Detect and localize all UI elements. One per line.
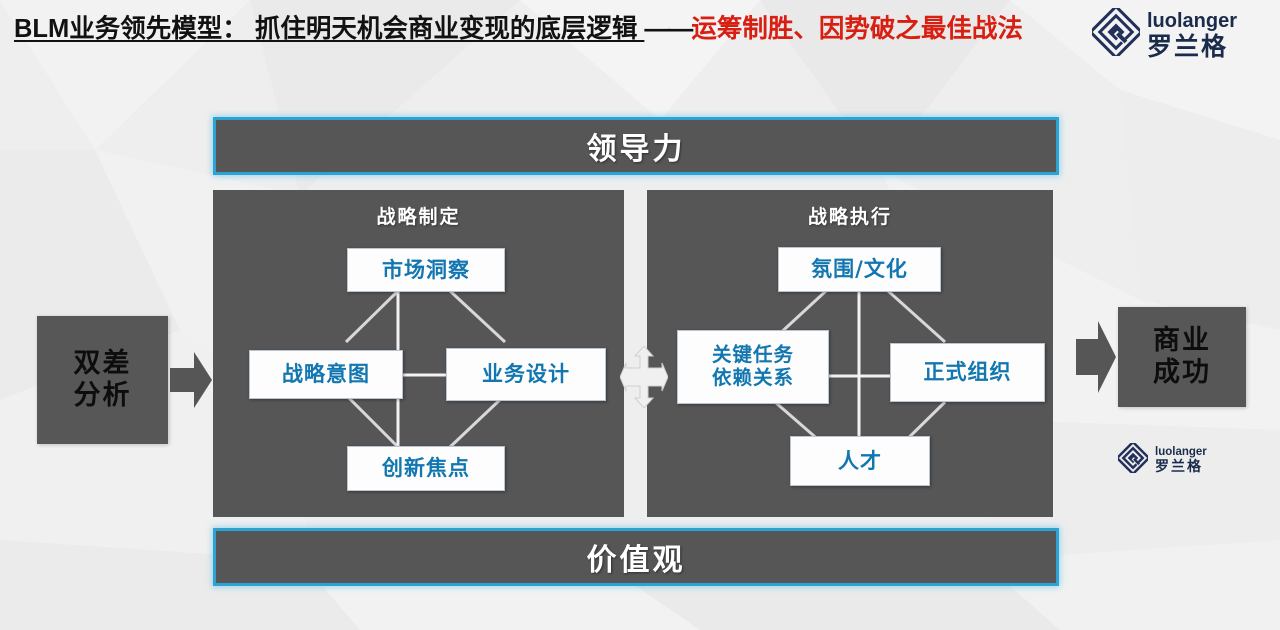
output-box-business-success: 商业成功: [1118, 307, 1246, 407]
node-talent[interactable]: 人才: [790, 436, 930, 486]
node-innovation-focus[interactable]: 创新焦点: [347, 446, 505, 491]
title-red-text: 运筹制胜、因势破之最佳战法: [691, 15, 1023, 43]
arrow-right-icon: [1076, 307, 1116, 412]
input-box-line2: 分析: [74, 380, 132, 411]
diamond-logo-icon: [1092, 8, 1140, 61]
node-atmosphere-culture[interactable]: 氛围/文化: [778, 247, 941, 292]
arrow-right-icon: [170, 352, 212, 413]
brand-name-en: luolanger: [1147, 11, 1237, 31]
brand-name-cn: 罗兰格: [1147, 34, 1237, 59]
input-box-label: 双差分析: [74, 348, 132, 412]
output-box-label: 商业成功: [1153, 325, 1211, 389]
node-label: 业务设计: [482, 362, 570, 386]
node-market-insight[interactable]: 市场洞察: [347, 248, 505, 292]
brand-name-en: luolanger: [1155, 447, 1207, 459]
title-dash: ——: [644, 15, 691, 43]
panel-title-left: 战略制定: [213, 202, 624, 229]
leadership-label: 领导力: [587, 124, 686, 168]
node-label: 市场洞察: [382, 258, 470, 282]
node-label: 战略意图: [282, 362, 370, 386]
brand-name-cn: 罗兰格: [1155, 460, 1207, 474]
diamond-logo-icon: [1118, 443, 1148, 478]
values-band: 价值观: [213, 528, 1059, 586]
output-box-line2: 成功: [1153, 357, 1211, 388]
leadership-band: 领导力: [213, 117, 1059, 175]
node-business-design[interactable]: 业务设计: [446, 348, 606, 401]
node-label-line2: 依赖关系: [712, 367, 794, 390]
title-black-text: BLM业务领先模型： 抓住明天机会商业变现的底层逻辑: [14, 15, 644, 43]
strategy-execution-panel: 战略执行 氛围/文化 关键任务 依赖关系 正式组织 人才: [647, 190, 1053, 517]
input-box-line1: 双差: [74, 348, 132, 379]
node-label-line1: 关键任务: [712, 344, 794, 367]
panel-title-right: 战略执行: [647, 202, 1053, 229]
slide-title: BLM业务领先模型： 抓住明天机会商业变现的底层逻辑 ——运筹制胜、因势破之最佳…: [14, 12, 1060, 46]
strategy-formulation-panel: 战略制定 市场洞察 战略意图 业务设计 创新焦点: [213, 190, 624, 517]
node-label: 氛围/文化: [811, 257, 908, 281]
node-formal-organization[interactable]: 正式组织: [890, 343, 1045, 402]
output-box-line1: 商业: [1153, 325, 1211, 356]
node-label: 人才: [838, 449, 882, 473]
brand-logo-bottom: luolanger 罗兰格: [1118, 443, 1207, 478]
input-box-dual-gap-analysis: 双差分析: [37, 316, 168, 444]
brand-logo-top: luolanger 罗兰格: [1092, 8, 1237, 61]
node-label: 创新焦点: [382, 456, 470, 480]
slide-canvas: BLM业务领先模型： 抓住明天机会商业变现的底层逻辑 ——运筹制胜、因势破之最佳…: [0, 0, 1280, 630]
node-key-task-dependency[interactable]: 关键任务 依赖关系: [677, 330, 829, 404]
bidirectional-arrow-icon: [620, 346, 668, 413]
node-strategic-intent[interactable]: 战略意图: [249, 350, 403, 399]
node-label: 正式组织: [924, 360, 1012, 384]
values-label: 价值观: [587, 535, 686, 579]
